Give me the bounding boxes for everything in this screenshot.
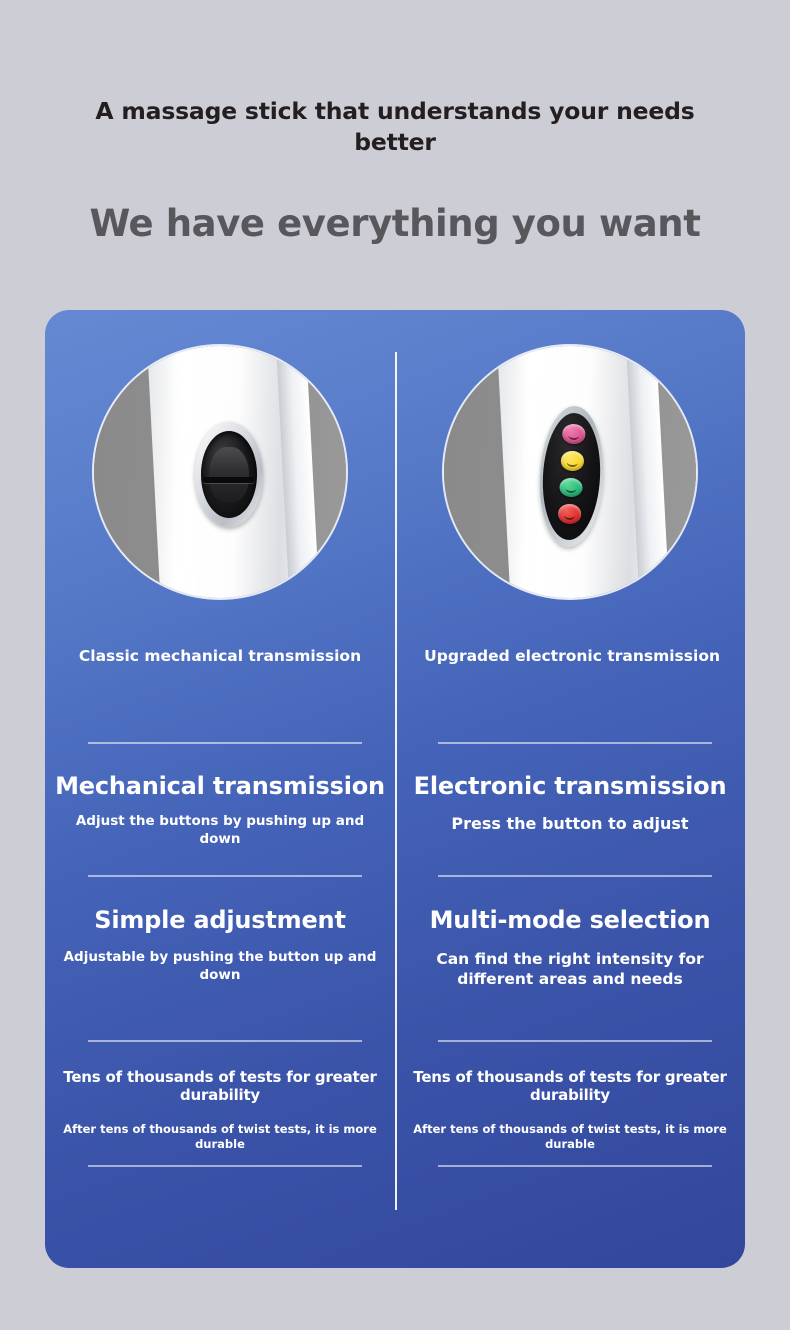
feature-row-mechanical-3: Tens of thousands of tests for greater d… bbox=[55, 1068, 385, 1153]
slider-slot bbox=[203, 477, 254, 483]
feature-row-electronic-1: Electronic transmission Press the button… bbox=[405, 772, 735, 834]
mode-button-green[interactable] bbox=[558, 478, 583, 499]
feature-subtitle: Adjustable by pushing the button up and … bbox=[55, 949, 385, 985]
mechanical-switch-photo bbox=[94, 346, 346, 598]
separator-line bbox=[88, 875, 362, 877]
feature-title: Tens of thousands of tests for greater d… bbox=[405, 1068, 735, 1104]
electronic-photo-caption: Upgraded electronic transmission bbox=[420, 646, 720, 666]
switch-bezel bbox=[195, 422, 263, 528]
header-block: A massage stick that understands your ne… bbox=[0, 96, 790, 159]
feature-subtitle: After tens of thousands of twist tests, … bbox=[55, 1122, 385, 1153]
separator-line bbox=[88, 742, 362, 744]
feature-subtitle: Press the button to adjust bbox=[405, 813, 735, 834]
column-mechanical: Classic mechanical transmission Mechanic… bbox=[45, 310, 395, 1268]
feature-subtitle: Adjust the buttons by pushing up and dow… bbox=[55, 813, 385, 849]
separator-line bbox=[438, 875, 712, 877]
feature-row-mechanical-1: Mechanical transmission Adjust the butto… bbox=[55, 772, 385, 849]
separator-line bbox=[438, 1165, 712, 1167]
feature-title: Mechanical transmission bbox=[55, 772, 385, 801]
feature-subtitle: After tens of thousands of twist tests, … bbox=[405, 1122, 735, 1153]
mechanical-photo-caption: Classic mechanical transmission bbox=[70, 646, 370, 666]
separator-line bbox=[88, 1040, 362, 1042]
switch-recess bbox=[201, 431, 257, 518]
slider-knob bbox=[209, 447, 249, 503]
feature-row-electronic-3: Tens of thousands of tests for greater d… bbox=[405, 1068, 735, 1153]
feature-title: Simple adjustment bbox=[55, 906, 385, 935]
feature-title: Electronic transmission bbox=[405, 772, 735, 801]
separator-line bbox=[88, 1165, 362, 1167]
feature-row-mechanical-2: Simple adjustment Adjustable by pushing … bbox=[55, 906, 385, 985]
column-electronic: Upgraded electronic transmission Electro… bbox=[395, 310, 745, 1268]
feature-row-electronic-2: Multi-mode selection Can find the right … bbox=[405, 906, 735, 990]
page-headline: A massage stick that understands your ne… bbox=[85, 96, 705, 159]
product-comparison-infographic: A massage stick that understands your ne… bbox=[0, 0, 790, 1330]
power-button-red[interactable] bbox=[557, 504, 582, 525]
separator-line bbox=[438, 742, 712, 744]
page-subheadline: We have everything you want bbox=[0, 202, 790, 245]
control-panel-face bbox=[540, 412, 603, 542]
feature-title: Multi-mode selection bbox=[405, 906, 735, 935]
feature-title: Tens of thousands of tests for greater d… bbox=[55, 1068, 385, 1104]
feature-subtitle: Can find the right intensity for differe… bbox=[405, 949, 735, 990]
mode-button-pink[interactable] bbox=[561, 424, 586, 445]
electronic-panel-photo bbox=[444, 346, 696, 598]
comparison-card: Classic mechanical transmission Mechanic… bbox=[45, 310, 745, 1268]
separator-line bbox=[438, 1040, 712, 1042]
mode-button-yellow[interactable] bbox=[560, 451, 585, 472]
